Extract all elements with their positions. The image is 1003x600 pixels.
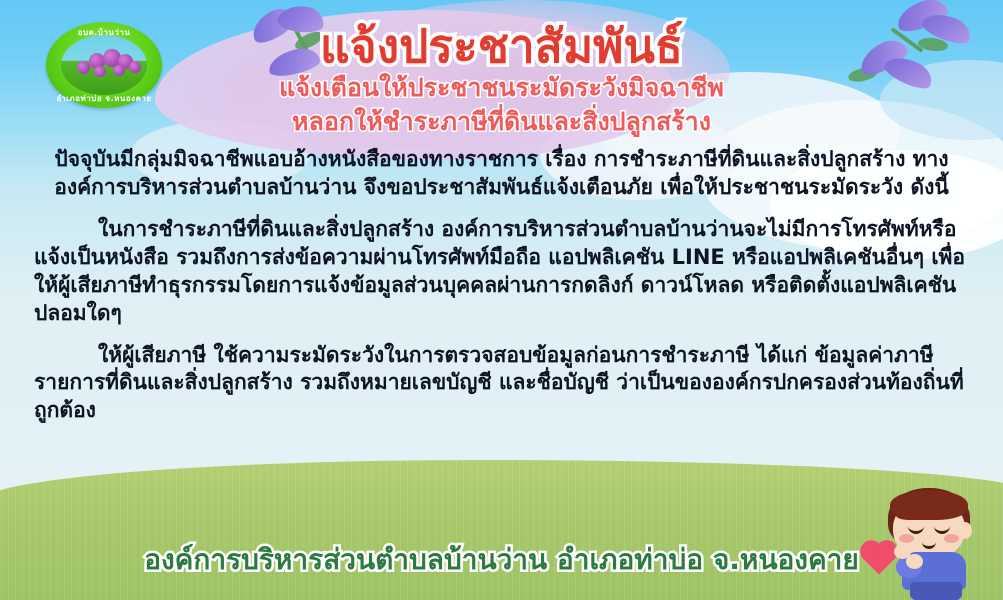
page-subtitle-line-2: หลอกให้ชำระภาษีที่ดินและสิ่งปลูกสร้าง: [0, 106, 1003, 138]
paragraph-3: ให้ผู้เสียภาษี ใช้ความระมัดระวังในการตรว…: [34, 342, 969, 426]
footer-organization: องค์การบริหารส่วนตำบลบ้านว่าน อำเภอท่าบ่…: [0, 538, 1003, 582]
page-title: แจ้งประชาสัมพันธ์: [0, 22, 1003, 70]
page-subtitle-line-1: แจ้งเตือนให้ประชาชนระมัดระวังมิจฉาชีพ: [0, 72, 1003, 104]
mascot-ear: [958, 522, 972, 539]
paragraph-2: ในการชำระภาษีที่ดินและสิ่งปลูกสร้าง องค์…: [34, 216, 969, 328]
mascot-pants: [910, 582, 962, 600]
paragraph-1: ปัจจุบันมีกลุ่มมิจฉาชีพแอบอ้างหนังสือของ…: [34, 146, 969, 202]
body-copy: ปัจจุบันมีกลุ่มมิจฉาชีพแอบอ้างหนังสือของ…: [34, 146, 969, 439]
announcement-poster: อบต.บ้านว่าน อำเภอท่าบ่อ จ.หนองคาย แจ้งป…: [0, 0, 1003, 600]
header-block: แจ้งประชาสัมพันธ์ แจ้งเตือนให้ประชาชนระม…: [0, 0, 1003, 138]
